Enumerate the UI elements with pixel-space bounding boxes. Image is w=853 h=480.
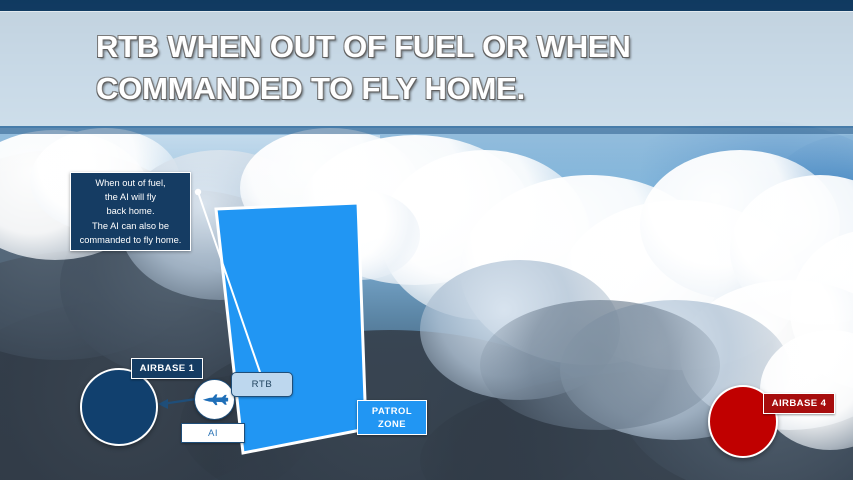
patrol-zone-line2: ZONE <box>378 418 406 431</box>
callout-line-4: The AI can also be <box>92 219 169 233</box>
callout-line-5: commanded to fly home. <box>80 233 182 247</box>
ai-label[interactable]: AI <box>181 423 245 443</box>
airbase1-circle[interactable] <box>80 368 158 446</box>
patrol-zone-polygon <box>216 203 366 453</box>
page-title: RTB WHEN OUT OF FUEL OR WHEN COMMANDED T… <box>96 26 796 109</box>
airbase4-label[interactable]: AIRBASE 4 <box>763 393 835 414</box>
banner-underline <box>0 126 853 134</box>
callout-line-3: back home. <box>106 204 154 218</box>
callout-box: When out of fuel, the AI will fly back h… <box>70 172 191 251</box>
callout-line-2: the AI will fly <box>105 190 156 204</box>
rtb-arrow-head <box>158 399 168 409</box>
callout-leader-dot <box>195 189 201 195</box>
fighter-jet-icon[interactable] <box>194 379 235 420</box>
callout-line-1: When out of fuel, <box>95 176 165 190</box>
rtb-label[interactable]: RTB <box>231 372 293 397</box>
slide-canvas: RTB WHEN OUT OF FUEL OR WHEN COMMANDED T… <box>0 0 853 480</box>
patrol-zone-line1: PATROL <box>372 405 412 418</box>
top-accent-band <box>0 0 853 11</box>
airbase1-label[interactable]: AIRBASE 1 <box>131 358 203 379</box>
patrol-zone-label[interactable]: PATROL ZONE <box>357 400 427 435</box>
